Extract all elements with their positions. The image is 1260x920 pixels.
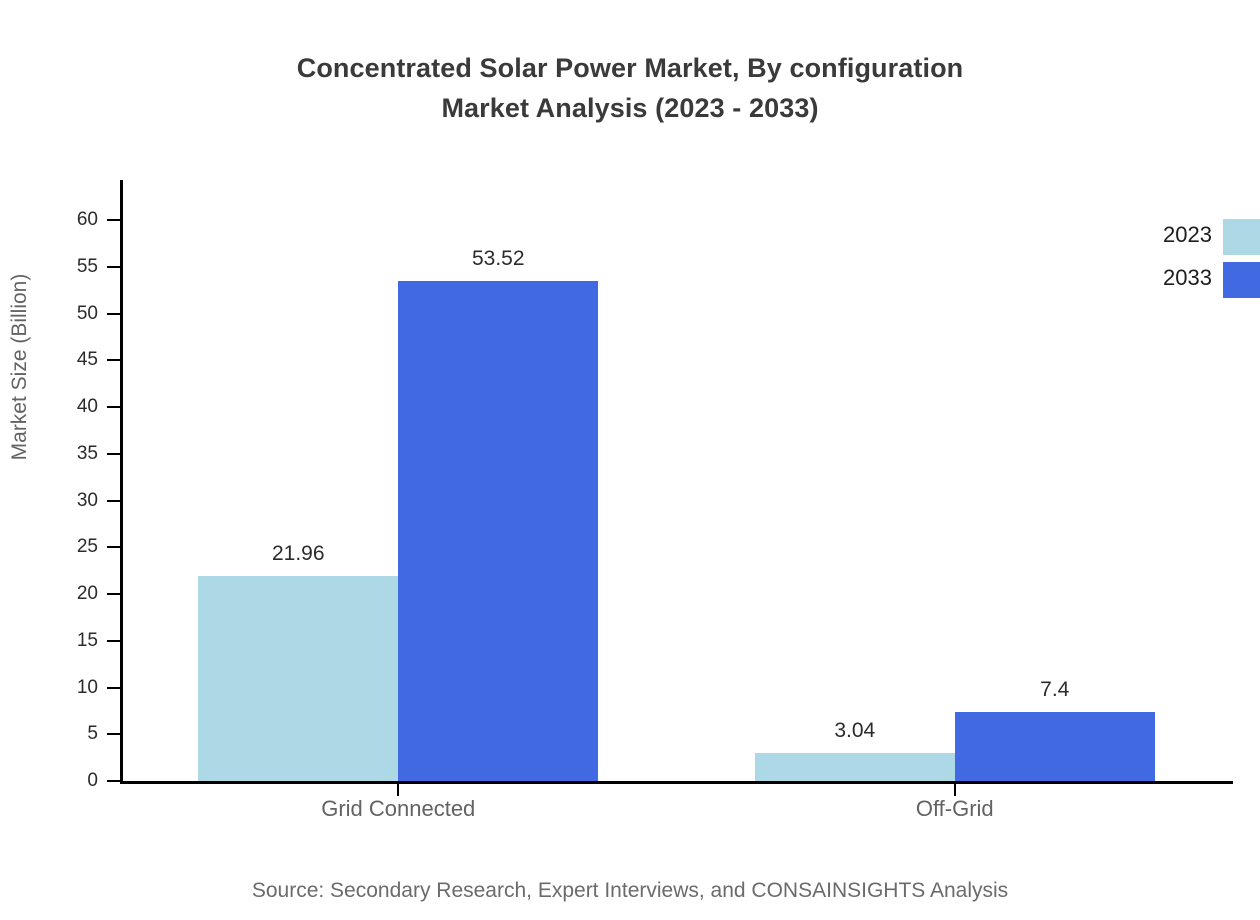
bar-2023-grid-connected[interactable] <box>198 576 398 781</box>
y-axis-tick <box>107 733 121 735</box>
x-axis-line <box>120 781 1233 784</box>
y-axis-tick-label: 0 <box>52 771 98 790</box>
legend: 2023 2033 <box>1100 216 1260 302</box>
y-axis-tick-label: 50 <box>52 304 98 323</box>
legend-item-2033[interactable]: 2033 <box>1100 259 1260 302</box>
y-axis-tick <box>107 359 121 361</box>
y-axis-tick-label: 15 <box>52 631 98 650</box>
bar-2023-off-grid[interactable] <box>755 753 955 781</box>
y-axis-title: Market Size (Billion) <box>8 242 32 492</box>
chart-title: Concentrated Solar Power Market, By conf… <box>0 48 1260 128</box>
bar-2033-grid-connected[interactable] <box>398 281 598 781</box>
y-axis-tick-label: 25 <box>52 537 98 556</box>
legend-swatch-2023 <box>1223 219 1260 255</box>
legend-item-2023[interactable]: 2023 <box>1100 216 1260 259</box>
y-axis-tick <box>107 500 121 502</box>
y-axis-tick <box>107 780 121 782</box>
y-axis-tick-label: 35 <box>52 444 98 463</box>
y-axis-tick-label: 40 <box>52 397 98 416</box>
y-axis-tick-label: 45 <box>52 350 98 369</box>
bar-value-label: 3.04 <box>755 720 955 742</box>
legend-label-2033: 2033 <box>1163 265 1212 291</box>
x-axis-category-label: Grid Connected <box>198 795 598 823</box>
y-axis-tick-label: 30 <box>52 491 98 510</box>
y-axis-tick-label: 5 <box>52 724 98 743</box>
y-axis-tick-label: 10 <box>52 678 98 697</box>
bar-value-label: 53.52 <box>398 248 598 270</box>
y-axis-tick <box>107 593 121 595</box>
y-axis-tick <box>107 219 121 221</box>
y-axis-tick <box>107 406 121 408</box>
bar-value-label: 7.4 <box>955 679 1155 701</box>
bar-chart: Concentrated Solar Power Market, By conf… <box>0 0 1260 920</box>
chart-title-line1: Concentrated Solar Power Market, By conf… <box>297 53 964 83</box>
bar-value-label: 21.96 <box>198 543 398 565</box>
source-note: Source: Secondary Research, Expert Inter… <box>0 877 1260 905</box>
bar-2033-off-grid[interactable] <box>955 712 1155 781</box>
y-axis-tick-label: 20 <box>52 584 98 603</box>
y-axis-tick <box>107 546 121 548</box>
y-axis-tick <box>107 687 121 689</box>
y-axis-tick-label: 55 <box>52 257 98 276</box>
y-axis-tick <box>107 313 121 315</box>
legend-label-2023: 2023 <box>1163 222 1212 248</box>
x-axis-category-label: Off-Grid <box>755 795 1155 823</box>
y-axis-tick <box>107 453 121 455</box>
legend-swatch-2033 <box>1223 262 1260 298</box>
chart-title-line2: Market Analysis (2023 - 2033) <box>0 88 1260 128</box>
y-axis-tick-label: 60 <box>52 210 98 229</box>
y-axis-tick <box>107 640 121 642</box>
y-axis-tick <box>107 266 121 268</box>
